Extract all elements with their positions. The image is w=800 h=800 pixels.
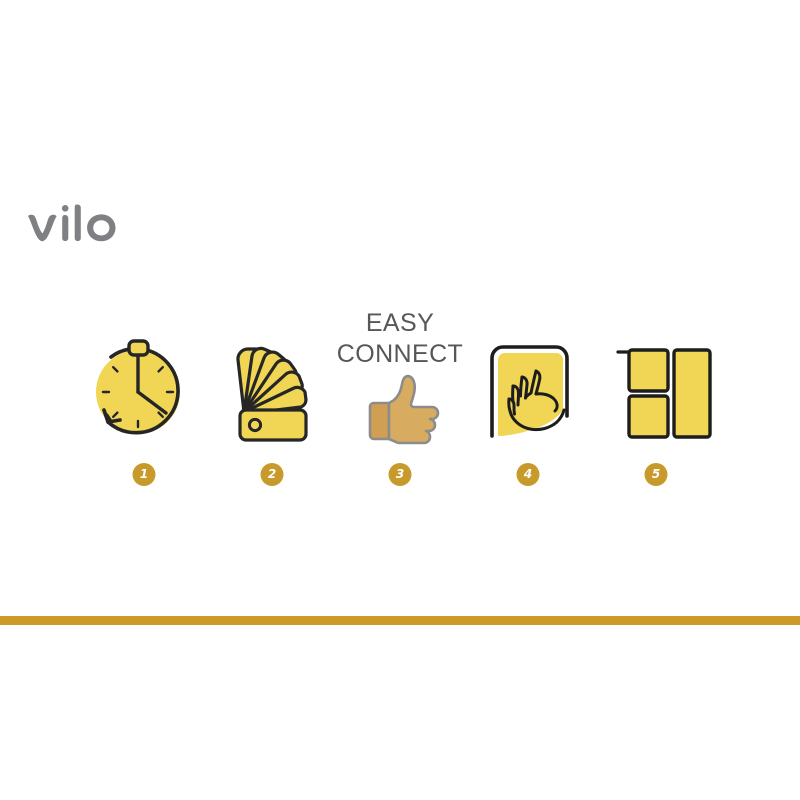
thumbs-up-icon [336,300,464,460]
step-badge-2: 2 [261,463,284,486]
feature-icon-strip: 1 [80,300,720,500]
step-easy-connect: EASY CONNECT 3 [336,300,464,500]
slide-canvas: 1 [0,0,800,800]
step-easy-clean: 4 [464,300,592,500]
hand-wipe-clean-icon [464,300,592,460]
step-badge-3: 3 [389,463,412,486]
step-panel-layout: 5 [592,300,720,500]
stopwatch-icon [80,300,208,460]
bottom-accent-bar [0,616,800,625]
step-badge-4: 4 [517,463,540,486]
vilo-logo [22,203,182,251]
step-badge-5: 5 [645,463,668,486]
step-stopwatch: 1 [80,300,208,500]
panel-layout-icon [592,300,720,460]
step-badge-1: 1 [133,463,156,486]
